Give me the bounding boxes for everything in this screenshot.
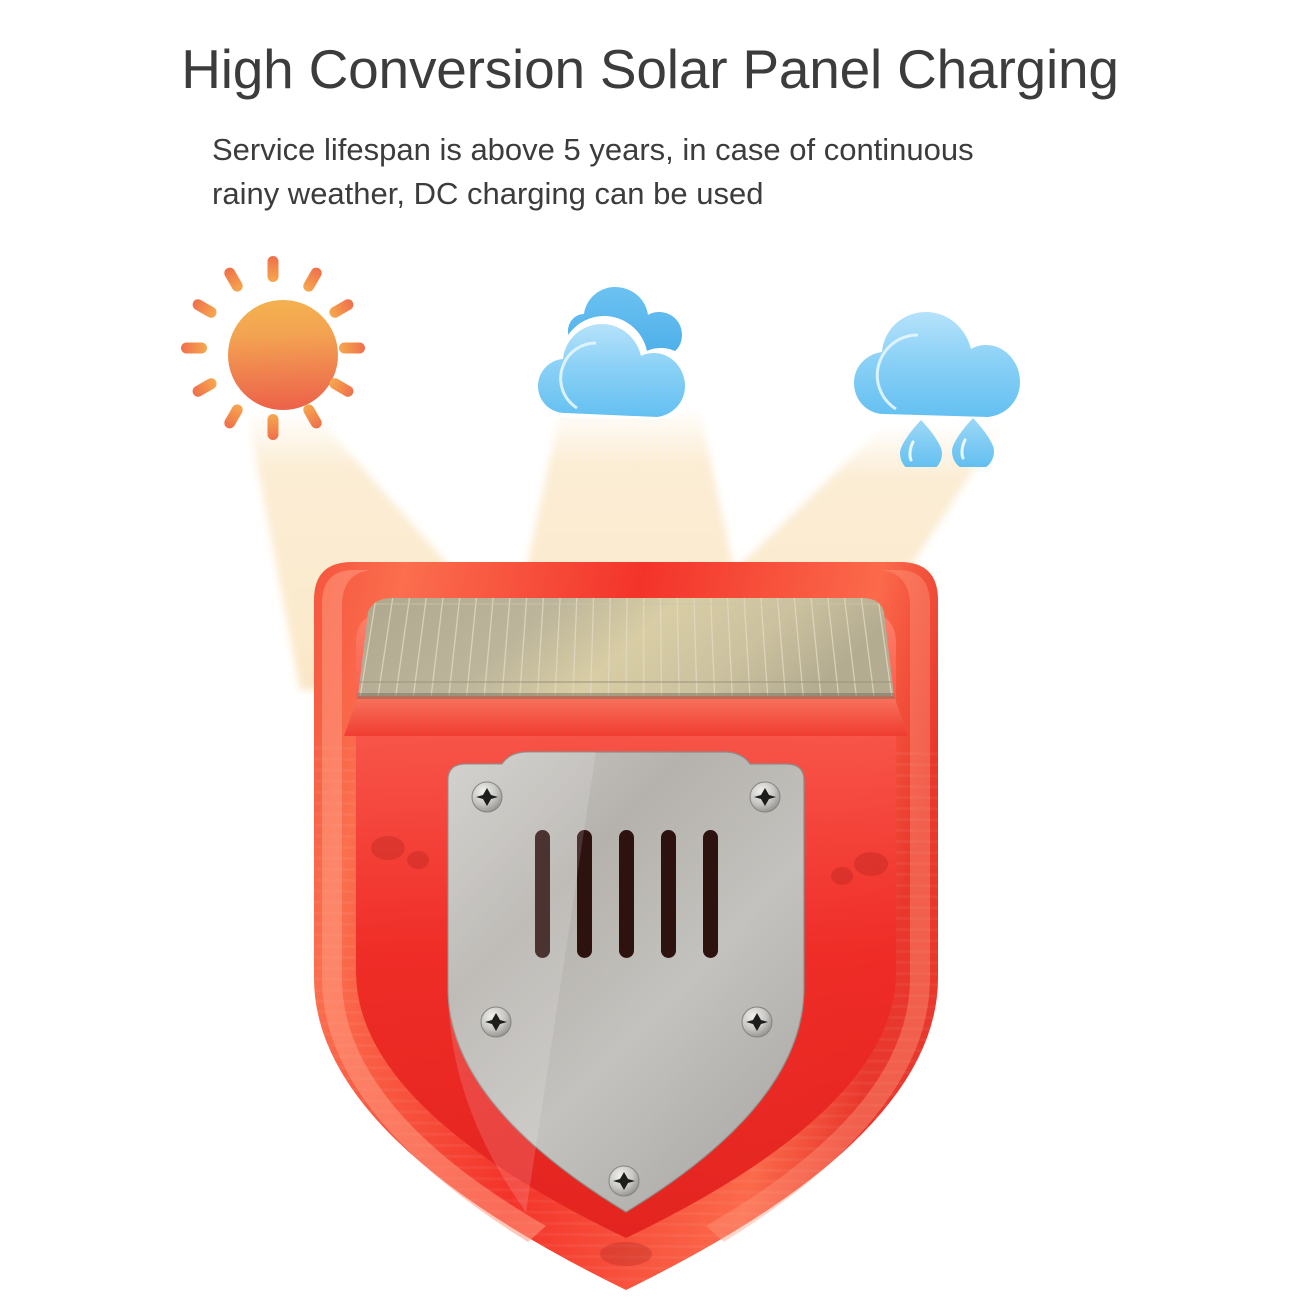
sun-icon	[175, 248, 370, 448]
sun-ray	[190, 297, 218, 320]
solar-panel-lip	[344, 696, 908, 736]
rain-cloud-icon	[838, 262, 1078, 467]
sun-ray	[222, 402, 245, 430]
screw-bottom-left	[481, 1007, 511, 1037]
solar-panel	[344, 598, 908, 736]
rain-droplet-left	[900, 420, 942, 467]
subtitle-line-2: rainy weather, DC charging can be used	[212, 172, 1112, 216]
sun-core	[228, 300, 338, 410]
screw-bottom-tip	[609, 1166, 639, 1196]
sun-ray	[327, 297, 355, 320]
sun-ray	[301, 266, 324, 294]
subtitle-line-1: Service lifespan is above 5 years, in ca…	[212, 128, 1112, 172]
page-title: High Conversion Solar Panel Charging	[0, 38, 1300, 100]
sun-ray	[190, 376, 218, 399]
infographic-canvas: High Conversion Solar Panel Charging Ser…	[0, 0, 1300, 1300]
cloud-icon	[527, 262, 737, 427]
screw-bottom-right	[742, 1007, 772, 1037]
solar-panel-edge-shadow	[357, 693, 895, 699]
page-subtitle: Service lifespan is above 5 years, in ca…	[212, 128, 1112, 216]
sun-ray	[267, 414, 278, 440]
solar-strobe-siren	[296, 548, 956, 1300]
sun-ray	[301, 402, 324, 430]
sun-ray	[267, 256, 278, 282]
sun-ray	[327, 376, 355, 399]
sun-ray	[222, 266, 245, 294]
screw-top-left	[472, 782, 502, 812]
rain-droplet-right	[952, 418, 994, 467]
screw-top-right	[750, 782, 780, 812]
sun-ray	[339, 343, 365, 354]
sun-ray	[181, 343, 207, 354]
